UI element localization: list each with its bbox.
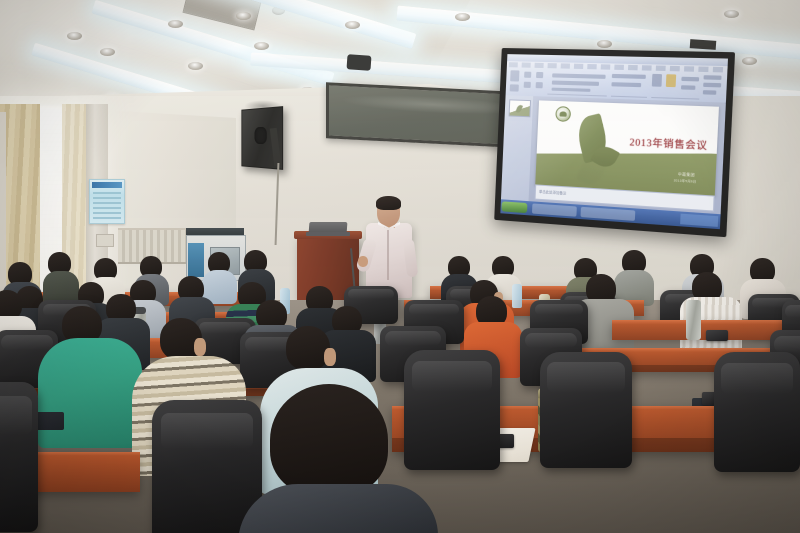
- chalk-dust: [343, 92, 523, 117]
- attendee-torso: [238, 484, 438, 533]
- presenter-hand: [358, 256, 368, 267]
- speaker-driver-icon: [255, 127, 267, 144]
- ribbon-icon[interactable]: [552, 73, 606, 79]
- presentation-slide: 2013年销售会议 中嘉集团 2013年5月6日: [535, 100, 719, 196]
- attendee-nape: [324, 348, 336, 366]
- downlight-icon: [67, 32, 82, 40]
- thumbnail-leaf-icon: [516, 104, 523, 113]
- downlight-icon: [188, 62, 203, 70]
- downlight-icon: [742, 57, 757, 65]
- chair-row1[interactable]: [540, 352, 632, 468]
- attendee-torso: [38, 338, 142, 448]
- ribbon-icon[interactable]: [666, 74, 676, 87]
- chair-row1[interactable]: [404, 350, 500, 470]
- system-tray[interactable]: [680, 214, 718, 227]
- projector-mount: [347, 54, 372, 71]
- notice-line: [93, 197, 121, 199]
- screen-bracket: [690, 39, 717, 50]
- smartphone[interactable]: [706, 330, 728, 341]
- projected-image: 2013年销售会议 中嘉集团 2013年5月6日 单击此处添加备注: [500, 54, 728, 229]
- ribbon-group-divider: [611, 96, 647, 98]
- ribbon-icon[interactable]: [703, 83, 721, 88]
- thermos-flask: [686, 300, 701, 340]
- ribbon-icon[interactable]: [524, 82, 531, 88]
- ribbon-icon[interactable]: [681, 85, 695, 90]
- ribbon-icon[interactable]: [524, 72, 531, 78]
- wall-notice-board: [89, 179, 125, 224]
- downlight-icon: [168, 20, 183, 28]
- notice-line: [93, 192, 121, 194]
- company-logo-icon: [555, 106, 571, 122]
- presenter-hair: [376, 196, 401, 210]
- slide-title: 2013年销售会议: [629, 133, 708, 151]
- notice-line: [93, 207, 121, 209]
- desk-edge: [612, 320, 800, 324]
- slide-canvas: 2013年销售会议 中嘉集团 2013年5月6日 单击此处添加备注: [529, 96, 725, 214]
- notice-line: [93, 212, 121, 214]
- cabinet-blue-panel: [188, 243, 204, 277]
- conference-room-photo: 2013年销售会议 中嘉集团 2013年5月6日 单击此处添加备注: [0, 0, 800, 533]
- ribbon-icon[interactable]: [612, 74, 646, 79]
- downlight-icon: [455, 13, 470, 21]
- notice-board-header: [92, 182, 122, 188]
- projector-screen: 2013年销售会议 中嘉集团 2013年5月6日 单击此处添加备注: [494, 48, 735, 237]
- ribbon-icon[interactable]: [510, 70, 519, 81]
- downlight-icon: [254, 42, 269, 50]
- taskbar-item[interactable]: [580, 207, 635, 221]
- downlight-icon: [100, 48, 115, 56]
- start-button[interactable]: [501, 201, 527, 213]
- attendee-head: [286, 326, 330, 370]
- downlight-icon: [345, 21, 360, 29]
- chair-row1[interactable]: [0, 382, 38, 532]
- slide-thumbnail[interactable]: [509, 99, 531, 117]
- ribbon-icon[interactable]: [703, 90, 717, 95]
- taskbar-item[interactable]: [532, 203, 577, 216]
- logo-inner-mark: [559, 111, 566, 116]
- notice-line: [93, 202, 121, 204]
- ribbon-icon[interactable]: [510, 84, 519, 91]
- downlight-icon: [724, 10, 739, 18]
- presenter-shirt-placket: [387, 230, 389, 280]
- downlight-icon: [236, 12, 251, 20]
- slide-organization: 中嘉集团: [678, 172, 695, 178]
- ribbon-icon[interactable]: [611, 82, 641, 87]
- water-bottle: [512, 284, 522, 308]
- attendee-head: [270, 384, 388, 496]
- attendee-nape: [194, 338, 206, 356]
- ribbon-icon[interactable]: [681, 77, 699, 82]
- ribbon-icon[interactable]: [652, 74, 662, 87]
- ribbon-icon[interactable]: [704, 75, 722, 80]
- ribbon-icon[interactable]: [536, 72, 543, 78]
- chair-row1[interactable]: [714, 352, 800, 472]
- downlight-icon: [597, 40, 612, 48]
- laptop-base: [306, 232, 350, 236]
- ribbon-icon[interactable]: [536, 82, 543, 88]
- ribbon-icon[interactable]: [552, 88, 591, 92]
- notes-placeholder: 单击此处添加备注: [539, 189, 567, 196]
- ribbon-group-divider: [651, 97, 699, 100]
- ribbon-icon[interactable]: [552, 80, 599, 85]
- light-switch[interactable]: [96, 234, 114, 247]
- notice-line: [93, 217, 121, 219]
